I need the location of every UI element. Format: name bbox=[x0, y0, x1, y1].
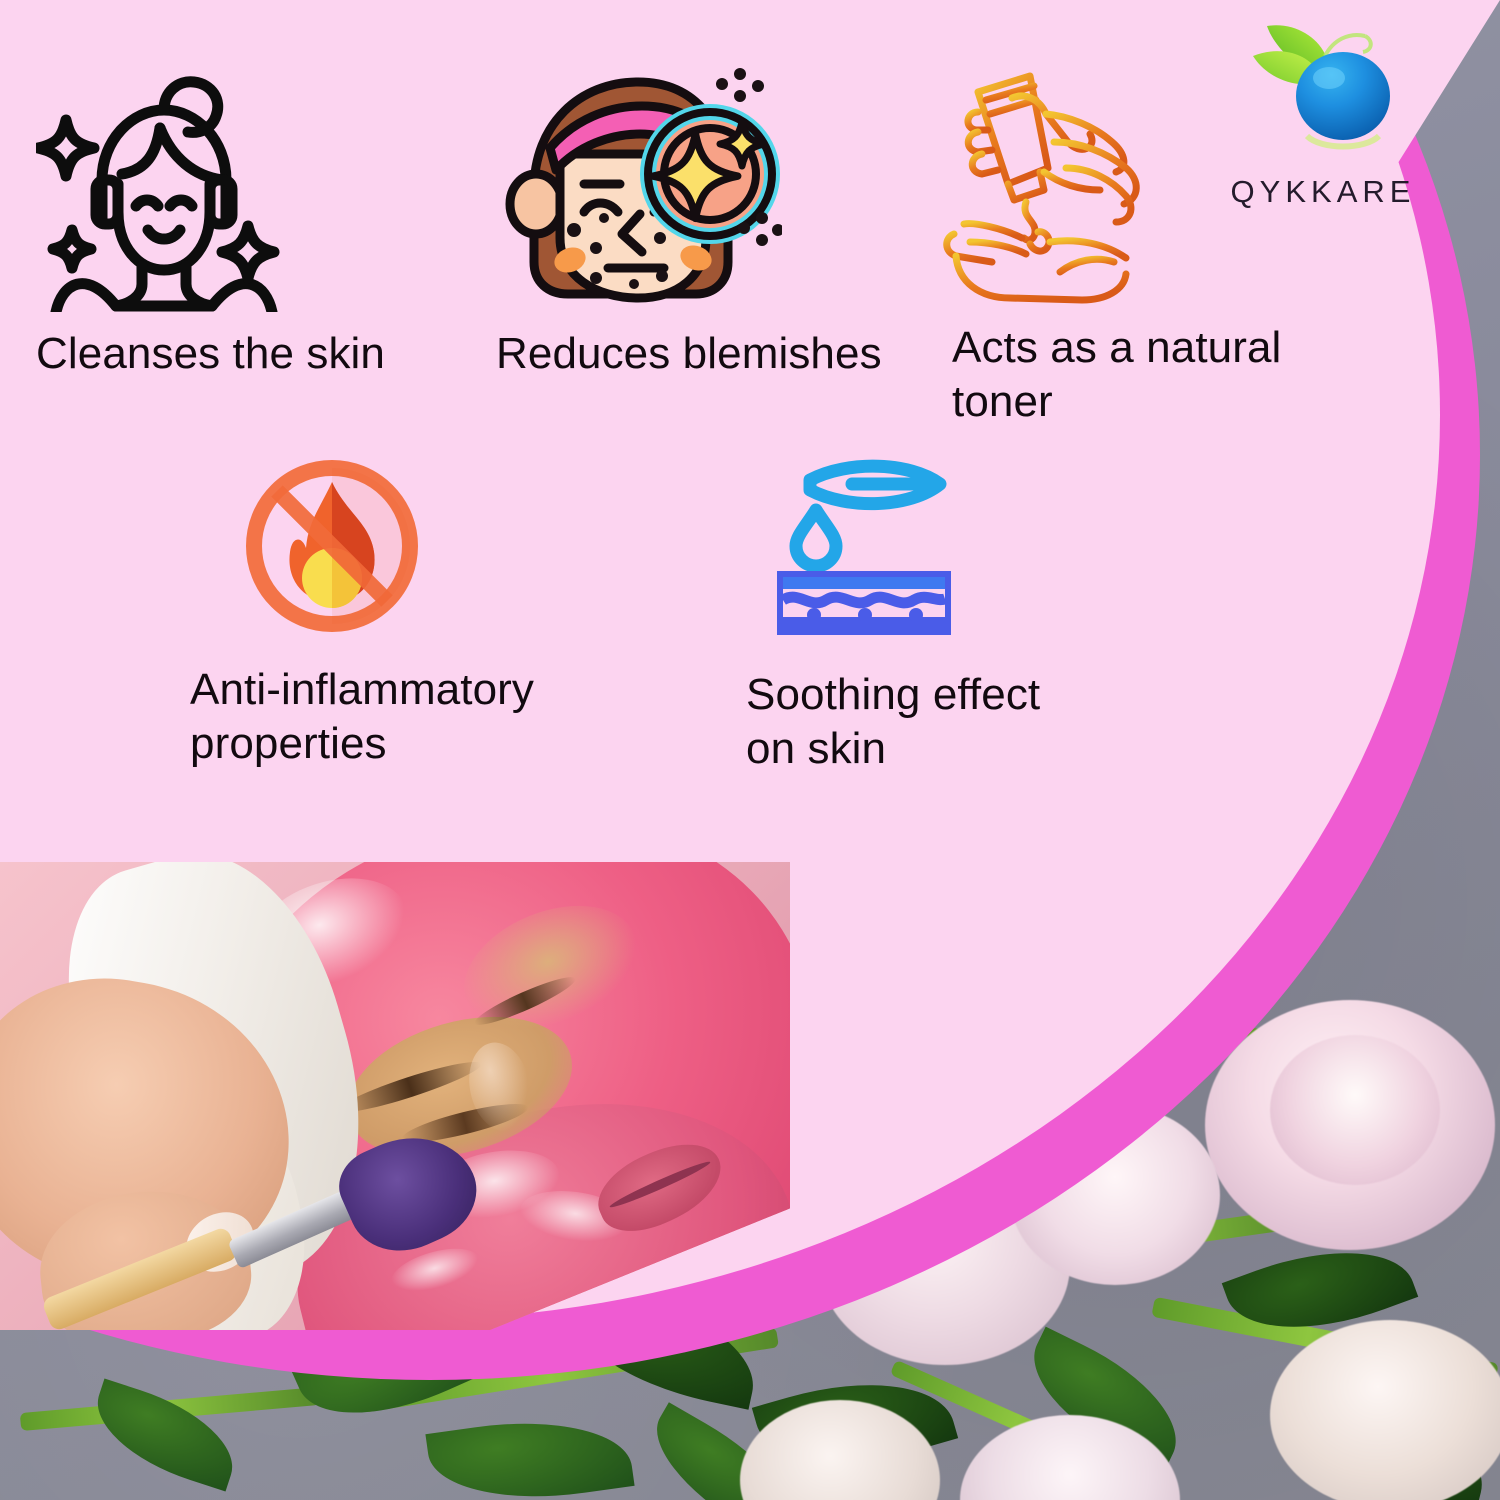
feature-soothing: Soothing effect on skin bbox=[742, 452, 1072, 775]
infographic-canvas: QYKKARE bbox=[0, 0, 1500, 1500]
feature-anti-inflammatory: Anti-inflammatory properties bbox=[178, 456, 608, 770]
feature-label: Soothing effect on skin bbox=[746, 668, 1072, 775]
feature-label: Anti-inflammatory properties bbox=[190, 663, 608, 770]
feature-label: Reduces blemishes bbox=[496, 327, 942, 381]
feature-toner: Acts as a natural toner bbox=[930, 56, 1350, 428]
woman-face-sparkle-icon bbox=[36, 62, 406, 317]
feature-blemishes: Reduces blemishes bbox=[492, 62, 942, 381]
no-fire-icon bbox=[242, 456, 608, 641]
hand-lotion-tube-icon bbox=[930, 56, 1350, 311]
feature-label: Acts as a natural toner bbox=[952, 321, 1350, 428]
feature-cleanses: Cleanses the skin bbox=[36, 62, 406, 381]
blemish-face-magnifier-icon bbox=[492, 62, 942, 317]
leaf-droplet-skin-layers-icon bbox=[764, 452, 1072, 642]
feature-label: Cleanses the skin bbox=[36, 327, 406, 381]
